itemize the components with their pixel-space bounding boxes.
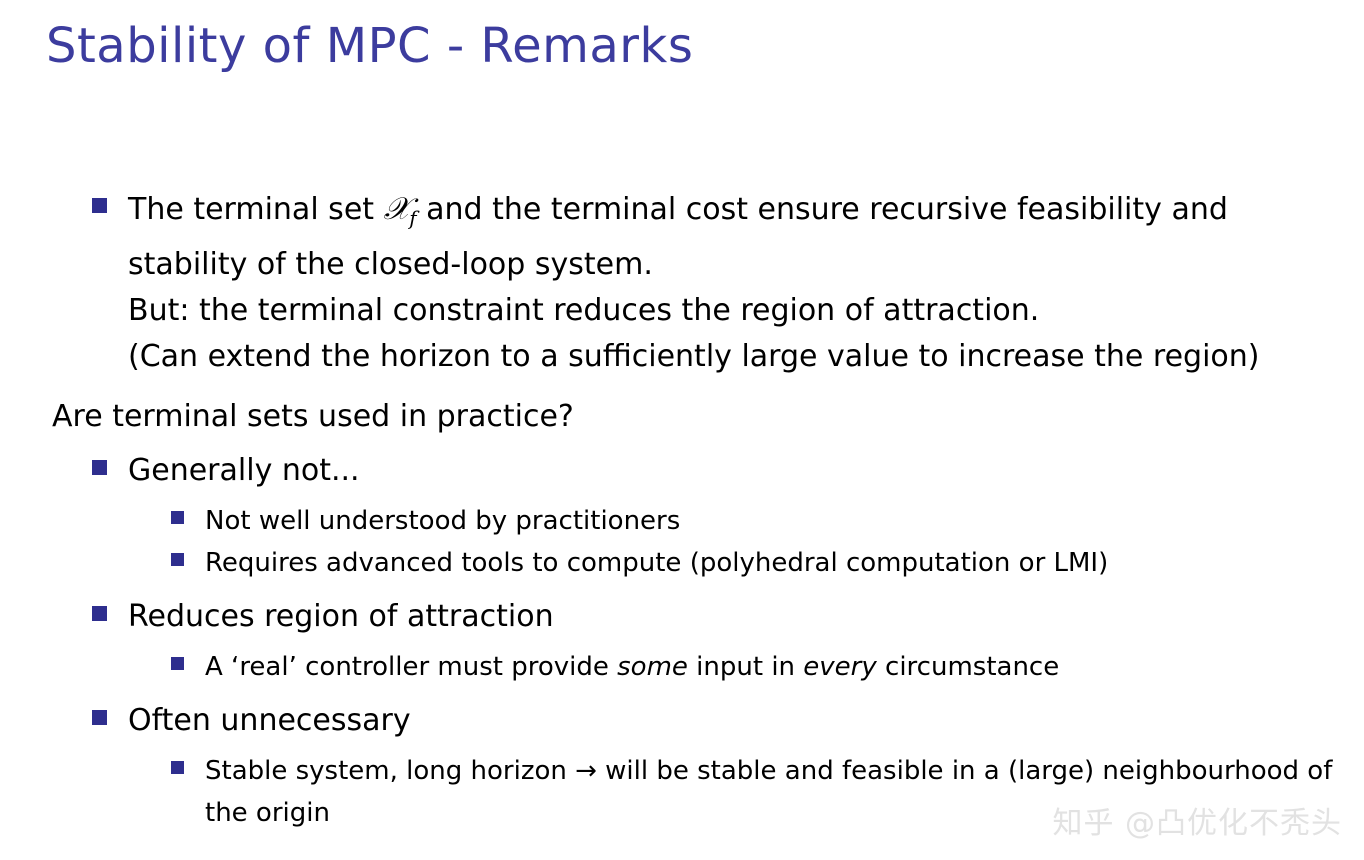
sub-bullet-text-mid: input in [688, 652, 803, 682]
bullet-item-generally-not: Generally not... [0, 448, 1364, 494]
sub-bullet-item-requires-advanced-tools: Requires advanced tools to compute (poly… [0, 542, 1364, 584]
bullet-line-2: But: the terminal constraint reduces the… [128, 288, 1344, 334]
sub-bullet-item-real-controller: A ‘real’ controller must provide some in… [0, 646, 1364, 688]
emphasis-some: some [617, 652, 688, 682]
math-subscript: f [409, 207, 416, 230]
sub-bullet-item-not-well-understood: Not well understood by practitioners [0, 500, 1364, 542]
bullet-item-reduces-region: Reduces region of attraction [0, 594, 1364, 640]
bullet-block-often-unnecessary: Often unnecessary [0, 698, 1364, 744]
bullet-line-1: The terminal set 𝒳f and the terminal cos… [128, 186, 1344, 288]
bullet-block-reduces-region: Reduces region of attraction [0, 594, 1364, 640]
math-symbol-terminal-set: 𝒳f [384, 191, 417, 227]
bullet-item-terminal-set: The terminal set 𝒳f and the terminal cos… [0, 186, 1364, 380]
slide-content: The terminal set 𝒳f and the terminal cos… [0, 186, 1364, 834]
emphasis-every: every [803, 652, 876, 682]
bullet-item-often-unnecessary: Often unnecessary [0, 698, 1364, 744]
bullet-text-part-a: The terminal set [128, 192, 384, 227]
sub-bullet-text-post: circumstance [877, 652, 1059, 682]
sub-bullet-text-pre: A ‘real’ controller must provide [205, 652, 617, 682]
page-title: Stability of MPC - Remarks [46, 18, 693, 74]
watermark: 知乎 @凸优化不秃头 [1052, 798, 1342, 842]
sub-bullet-block-requires-advanced-tools: Requires advanced tools to compute (poly… [0, 542, 1364, 584]
bullet-block-terminal-set: The terminal set 𝒳f and the terminal cos… [0, 186, 1364, 380]
math-base: 𝒳 [384, 191, 411, 227]
question-line: Are terminal sets used in practice? [0, 394, 1364, 440]
bullet-block-generally-not: Generally not... [0, 448, 1364, 494]
bullet-line-3: (Can extend the horizon to a sufficientl… [128, 334, 1344, 380]
sub-bullet-block-real-controller: A ‘real’ controller must provide some in… [0, 646, 1364, 688]
sub-bullet-block-not-well-understood: Not well understood by practitioners [0, 500, 1364, 542]
